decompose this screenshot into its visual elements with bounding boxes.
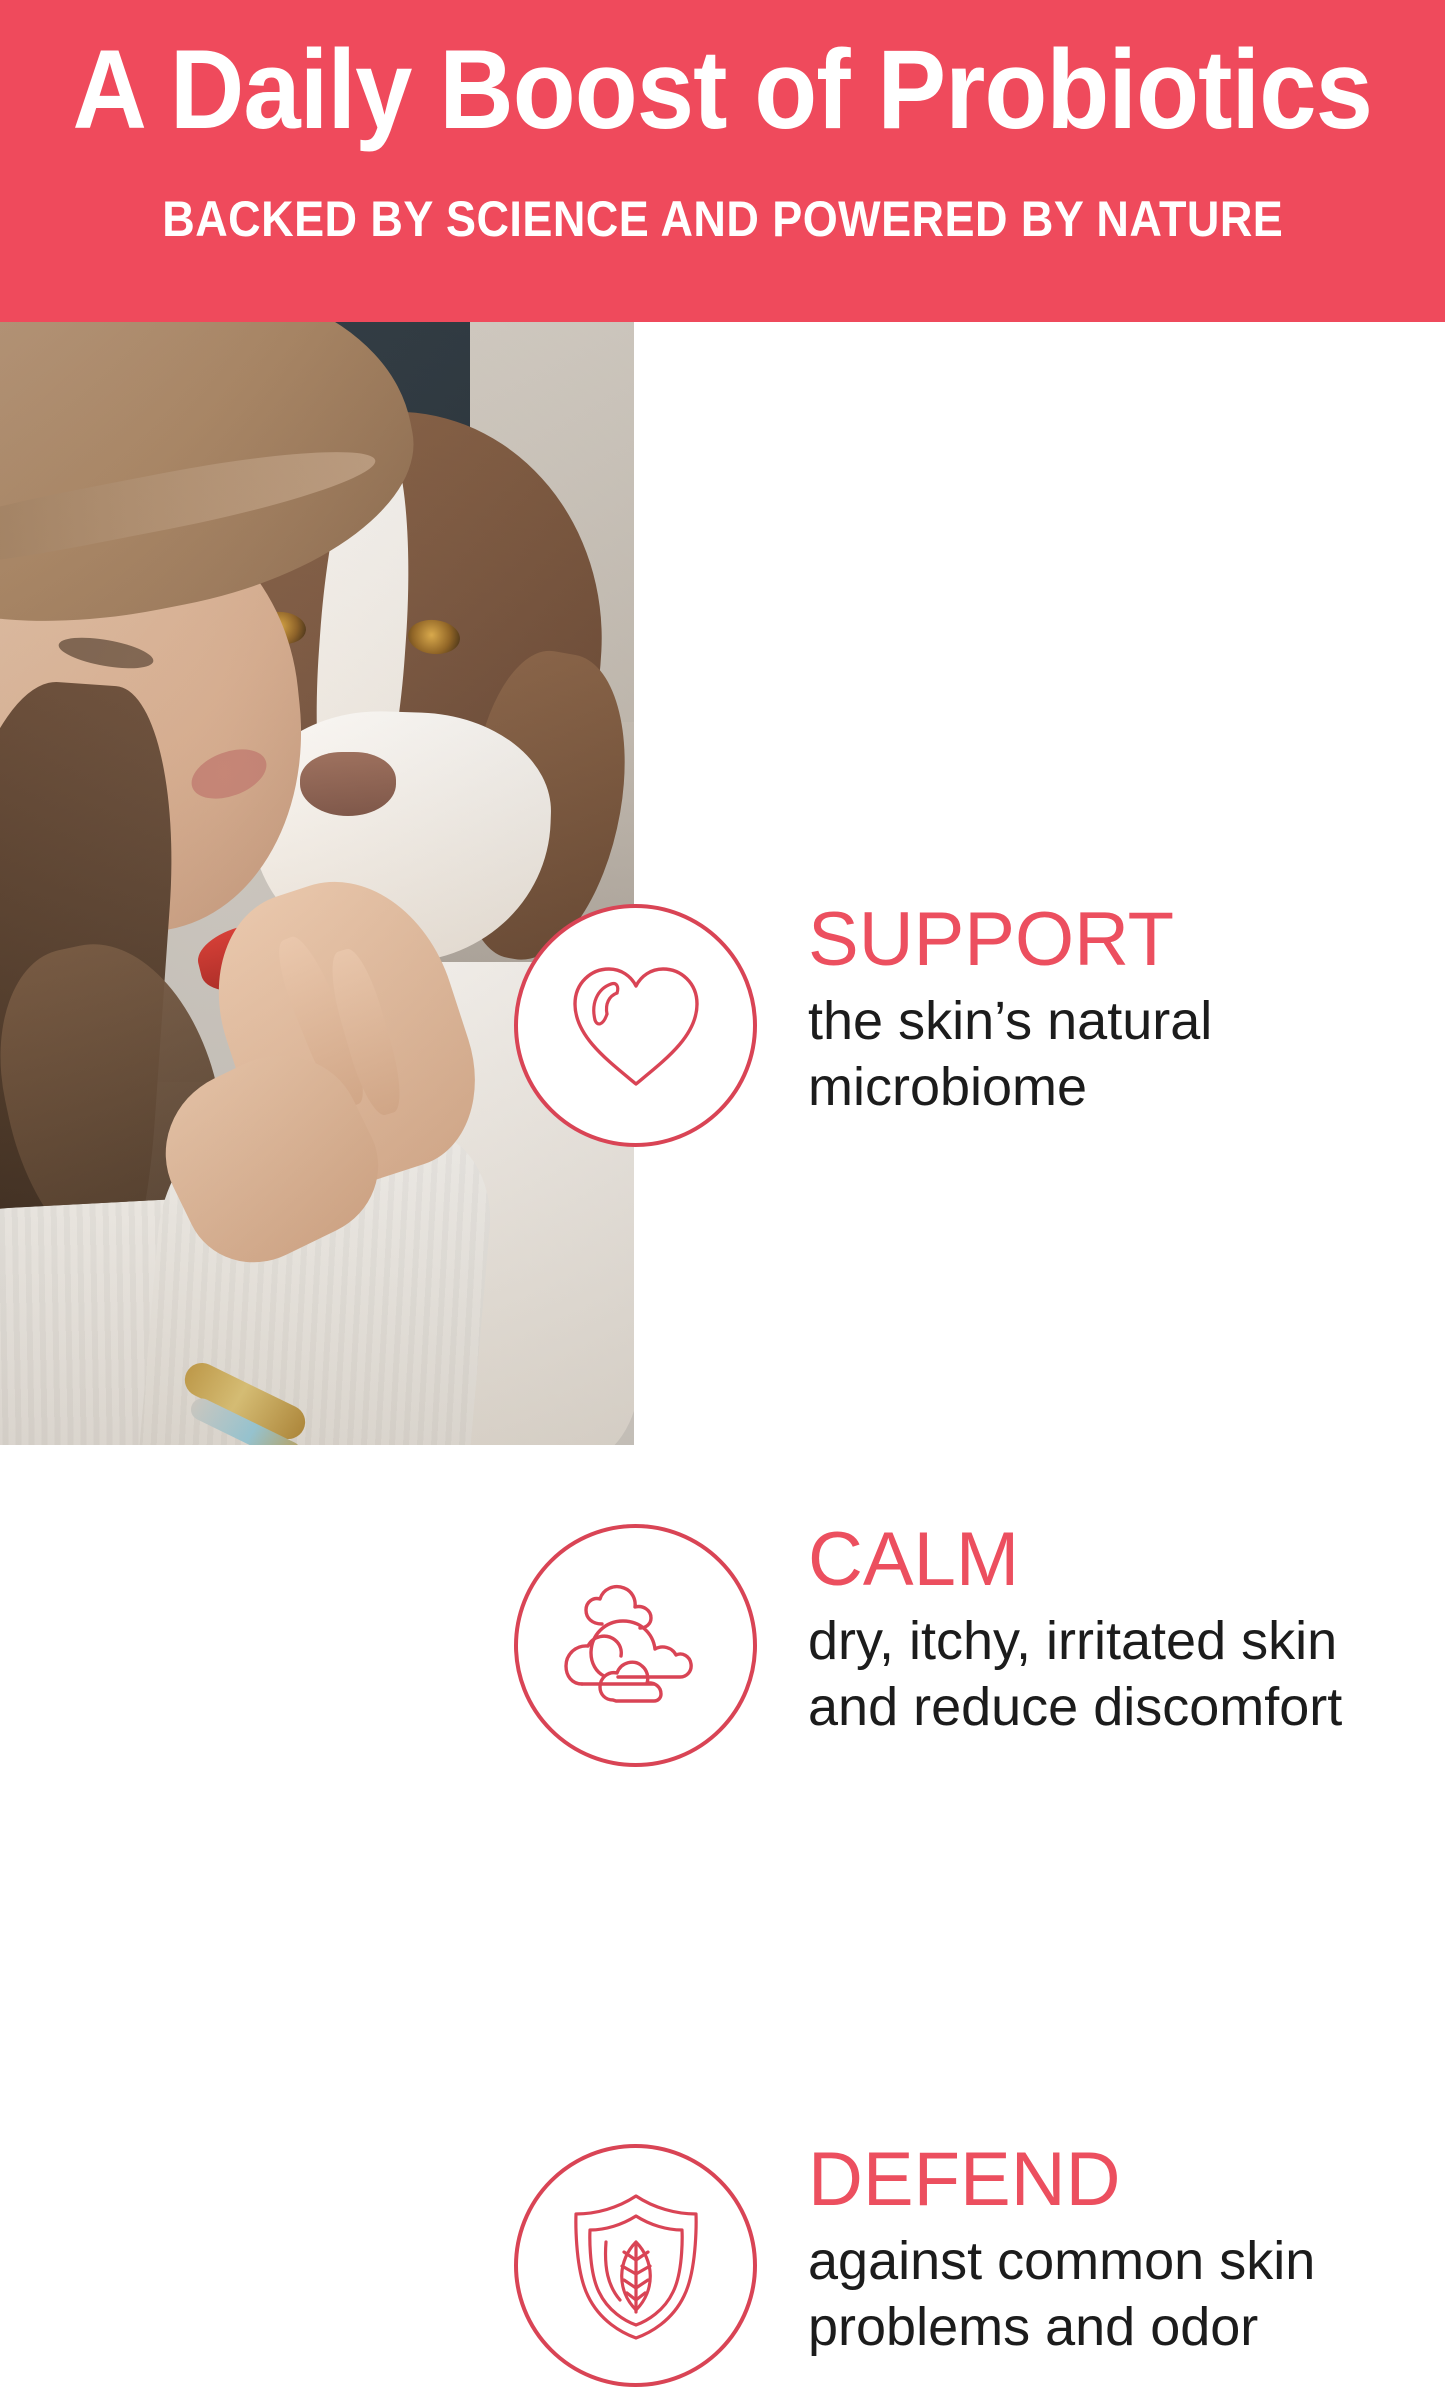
page-title: A Daily Boost of Probiotics bbox=[73, 34, 1373, 146]
header-band: A Daily Boost of Probiotics BACKED BY SC… bbox=[0, 0, 1445, 322]
feature-defend-text: DEFEND against common skin problems and … bbox=[808, 2144, 1428, 2361]
photo-vignette bbox=[0, 322, 634, 1445]
feature-support-text: SUPPORT the skin’s natural microbiome bbox=[808, 904, 1428, 1121]
feature-defend-description: against common skin problems and odor bbox=[808, 2229, 1428, 2361]
feature-calm-title: CALM bbox=[808, 1524, 1428, 1597]
page-subtitle: BACKED BY SCIENCE AND POWERED BY NATURE bbox=[162, 194, 1283, 244]
feature-defend-title: DEFEND bbox=[808, 2144, 1428, 2217]
feature-calm-text: CALM dry, itchy, irritated skin and redu… bbox=[808, 1524, 1428, 1741]
feature-calm-description: dry, itchy, irritated skin and reduce di… bbox=[808, 1609, 1428, 1741]
shield-leaf-icon bbox=[514, 2144, 757, 2387]
clouds-icon bbox=[514, 1524, 757, 1767]
content-panel bbox=[634, 322, 1445, 1445]
feature-support-description: the skin’s natural microbiome bbox=[808, 989, 1428, 1121]
hero-photo bbox=[0, 322, 634, 1445]
heart-icon bbox=[514, 904, 757, 1147]
feature-support-title: SUPPORT bbox=[808, 904, 1428, 977]
